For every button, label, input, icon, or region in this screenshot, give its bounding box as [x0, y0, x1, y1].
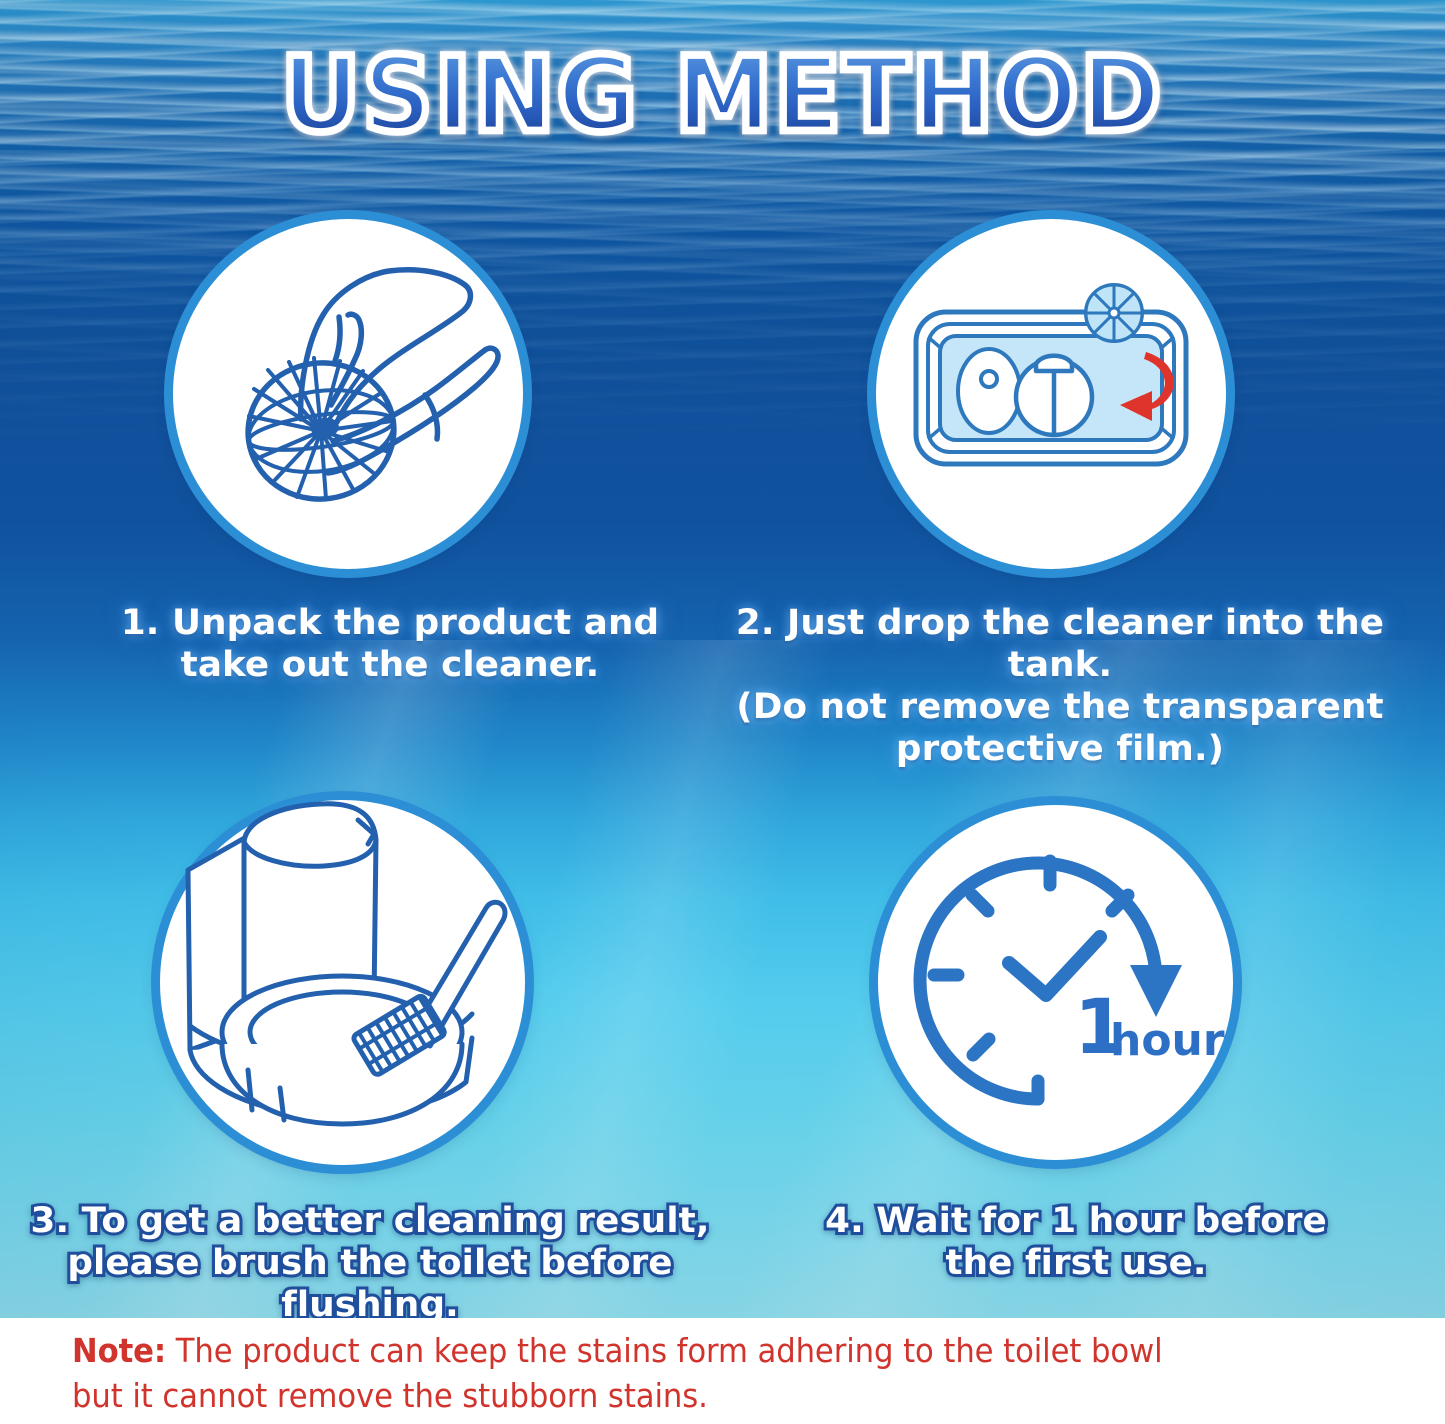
caption-line: 4. Wait for 1 hour before: [801, 1200, 1352, 1242]
note-text: Note: The product can keep the stains fo…: [72, 1328, 1300, 1418]
caption-line: take out the cleaner.: [53, 644, 726, 686]
caption-line: the first use.: [801, 1242, 1352, 1284]
infographic-canvas: USING METHOD: [0, 0, 1445, 1424]
caption-line: 3. To get a better cleaning result,: [3, 1200, 737, 1242]
caption-line: please brush the toilet before flushing.: [3, 1242, 737, 1326]
caption-line: 2. Just drop the cleaner into the tank.: [709, 602, 1411, 686]
clock-badge-unit: hour: [1110, 1015, 1225, 1066]
note-line-1-text: The product can keep the stains form adh…: [166, 1331, 1162, 1370]
title-area: USING METHOD: [0, 48, 1445, 144]
page-title: USING METHOD: [281, 42, 1163, 150]
footer-note-bar: Note: The product can keep the stains fo…: [0, 1318, 1445, 1424]
caption-line: (Do not remove the transparent: [709, 686, 1411, 728]
toilet-tank-drop-cleaner-icon: [876, 219, 1226, 569]
caption-line: protective film.): [709, 728, 1411, 770]
caption-line: 1. Unpack the product and: [53, 602, 726, 644]
hand-holding-cleaner-ball-icon: [173, 219, 523, 569]
note-label: Note:: [72, 1331, 166, 1370]
step-3-caption: 3. To get a better cleaning result, plea…: [3, 1200, 737, 1326]
step-1-caption: 1. Unpack the product and take out the c…: [53, 602, 726, 686]
clock-one-hour-icon: 1 hour: [878, 805, 1233, 1160]
toilet-with-brush-icon: [160, 800, 525, 1165]
note-line-1: Note: The product can keep the stains fo…: [72, 1328, 1300, 1373]
step-2-caption: 2. Just drop the cleaner into the tank. …: [709, 602, 1411, 770]
step-4-caption: 4. Wait for 1 hour before the first use.: [801, 1200, 1352, 1284]
note-line-2: but it cannot remove the stubborn stains…: [72, 1373, 1300, 1418]
